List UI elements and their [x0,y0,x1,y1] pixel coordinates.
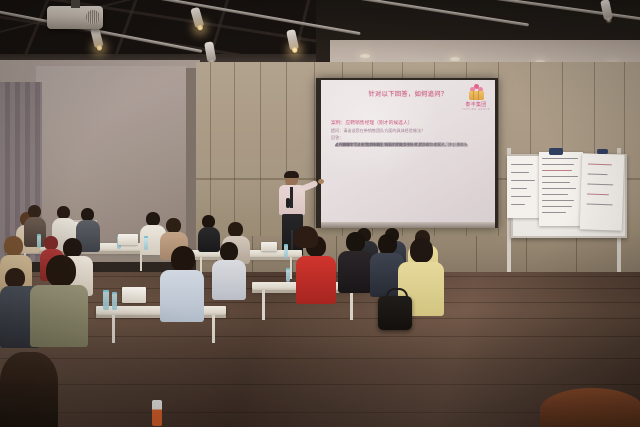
seminar-room-photo: 针对以下回答，如何追问？ 泰丰集团 TAIFUNG GROUP 案例：应聘销售经… [0,0,640,427]
flipchart-clip [597,149,608,154]
chair [238,278,288,336]
company-logo: 泰丰集团 TAIFUNG GROUP [462,84,490,111]
flipchart-sheet [539,152,583,226]
foreground-attendee [540,388,640,427]
logo-name-cn: 泰丰集团 [462,101,490,108]
slide-line: 回答： [331,135,489,141]
table-leg [290,257,292,279]
flipchart-sheet [507,156,543,218]
projection-screen: 针对以下回答，如何追问？ 泰丰集团 TAIFUNG GROUP 案例：应聘销售经… [321,80,495,224]
sprout-logo-icon [468,84,485,100]
sports-bottle [152,400,162,426]
slide-line: C、针对性地，有重点地给干部员工安排工作任务，看着完成情况，并在过程中 [335,142,467,147]
presentation-slide: 针对以下回答，如何追问？ 泰丰集团 TAIFUNG GROUP 案例：应聘销售经… [321,80,495,224]
ceiling-projector [47,6,103,29]
tissue-box [118,234,138,245]
water-bottle [144,236,148,250]
tissue-box [261,242,277,251]
flipchart-clip [549,148,563,155]
chair [292,288,350,358]
slide-line: 提问：请谈谈您在带销售团队方面的具体经验做法？ [331,128,489,134]
flipchart-sheet [580,153,625,230]
chair [186,276,228,326]
slide-line: 案例：应聘销售经理（刚才的候选人） [331,120,489,127]
screen-bottom-bar [321,222,495,228]
water-bottle [284,244,288,258]
chair [48,330,134,422]
logo-name-en: TAIFUNG GROUP [462,108,490,111]
water-bottle [112,292,117,310]
foreground-attendee [294,226,318,248]
chair [352,282,404,346]
chair [140,290,188,346]
water-bottle [103,290,109,310]
chair [400,286,450,348]
slide-line: 进行辅导。 [335,142,354,147]
foreground-attendee [0,352,58,427]
